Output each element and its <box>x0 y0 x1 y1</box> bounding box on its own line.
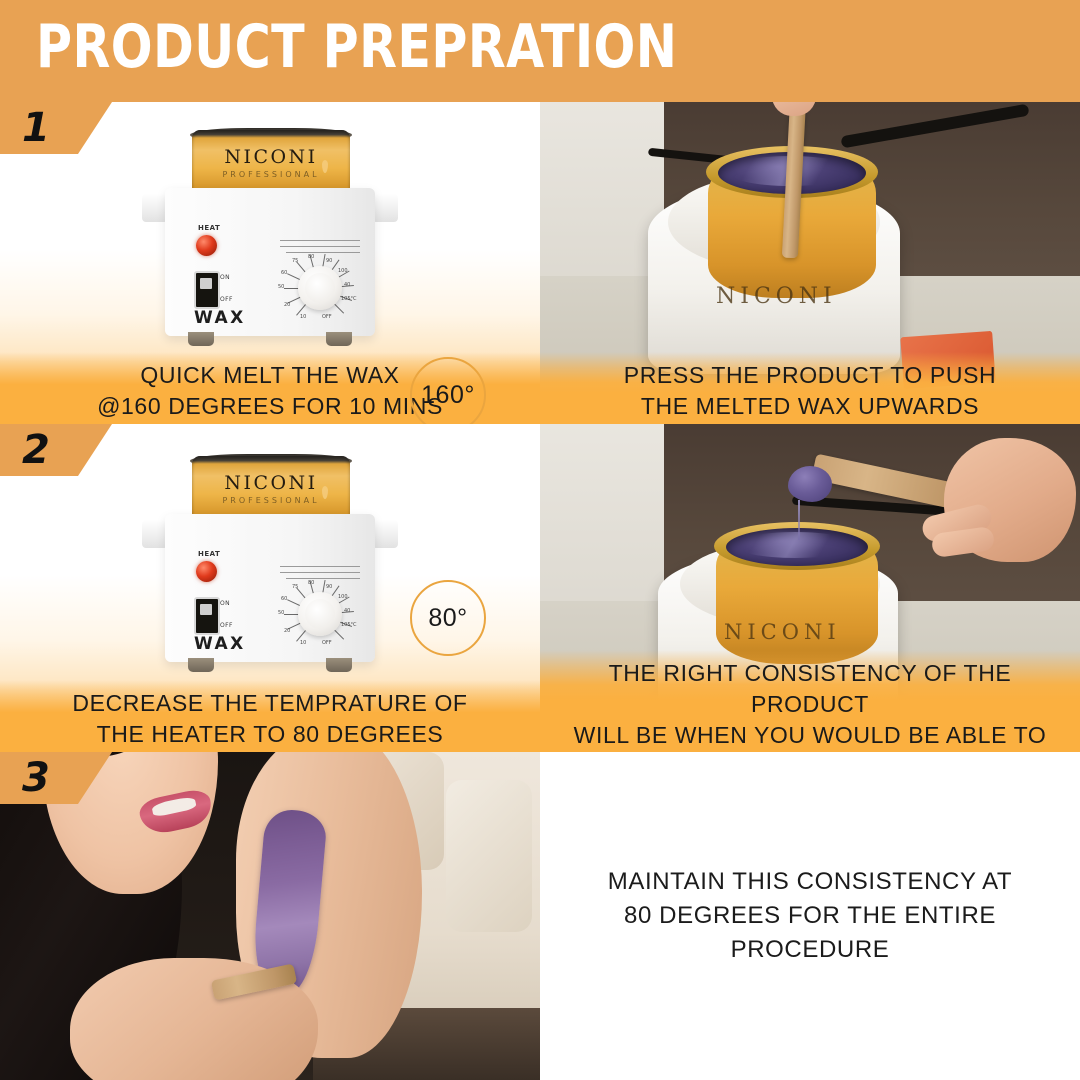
power-switch[interactable] <box>194 271 220 309</box>
dial-tick-label: 60 <box>281 270 287 276</box>
step-number: 2 <box>22 426 50 474</box>
step-2-left-panel: NICONI PROFESSIONAL HEAT ON OFF WAX <box>0 424 540 752</box>
vent-line <box>280 572 360 573</box>
step-1-right-caption: PRESS THE PRODUCT TO PUSH THE MELTED WAX… <box>540 352 1080 424</box>
caption-line: DECREASE THE TEMPRATURE OF <box>12 688 528 719</box>
caption-line: WILL BE WHEN YOU WOULD BE ABLE TO HOLD <box>552 720 1068 752</box>
dial-tick-label: 100 <box>338 594 348 600</box>
tin-brand-text: NICONI <box>716 284 868 306</box>
dial-tick-label: 10 <box>300 640 306 646</box>
wax-on-spatula <box>788 466 832 502</box>
machine-foot <box>326 658 352 672</box>
step-3-right-panel: MAINTAIN THIS CONSISTENCY AT 80 DEGREES … <box>540 752 1080 1080</box>
vent-line <box>280 566 360 567</box>
wax-tin: NICONI PROFESSIONAL <box>192 456 350 522</box>
switch-on-label: ON <box>220 600 230 607</box>
vent-line <box>280 246 360 247</box>
dial-tick-label: 80 <box>308 580 314 586</box>
vent-line <box>280 240 360 241</box>
wax-strand <box>798 500 800 540</box>
text-line: 80 DEGREES FOR THE ENTIRE PROCEDURE <box>570 899 1050 967</box>
dial-tick-label: 100 <box>338 268 348 274</box>
header-bar: PRODUCT PREPRATION <box>0 0 1080 102</box>
dial-knob[interactable] <box>298 266 342 310</box>
heat-indicator-label: HEAT <box>198 550 220 558</box>
machine-foot <box>326 332 352 346</box>
step-3-left-panel: 3 <box>0 752 540 1080</box>
temperature-dial[interactable]: 80 75 90 60 100 50 40 105°C OFF 20 10 <box>278 252 360 326</box>
tin-brand-text: NICONI <box>724 620 872 642</box>
wax-heater-machine: NICONI PROFESSIONAL HEAT ON OFF WAX <box>120 442 420 692</box>
dial-tick-label: 105°C <box>341 296 357 302</box>
dial-tick-label: 60 <box>281 596 287 602</box>
dial-tick-label: 20 <box>284 302 290 308</box>
machine-foot <box>188 658 214 672</box>
dial-tick-label: 90 <box>326 584 332 590</box>
photo-apply-wax-on-arm <box>0 752 540 1080</box>
dial-tick-label: 40 <box>344 282 350 288</box>
closing-instruction-panel: MAINTAIN THIS CONSISTENCY AT 80 DEGREES … <box>540 752 1080 1080</box>
dial-tick-label: 75 <box>292 258 298 264</box>
switch-on-label: ON <box>220 274 230 281</box>
wax-heater-machine: NICONI PROFESSIONAL HEAT ON OFF WAX <box>120 116 420 366</box>
step-3-row: 3 MAINTAIN THIS CONSISTENCY AT 80 DEGREE… <box>0 752 1080 1080</box>
caption-line: THE RIGHT CONSISTENCY OF THE PRODUCT <box>552 658 1068 720</box>
dial-tick-label: 50 <box>278 610 284 616</box>
text-line: MAINTAIN THIS CONSISTENCY AT <box>570 865 1050 899</box>
heat-indicator-label: HEAT <box>198 224 220 232</box>
temperature-badge-80: 80° <box>410 580 486 656</box>
dial-tick-label: 10 <box>300 314 306 320</box>
caption-line: THE HEATER TO 80 DEGREES <box>12 719 528 750</box>
wax-tin: NICONI PROFESSIONAL <box>192 130 350 196</box>
step-number: 3 <box>22 754 50 802</box>
step-number: 1 <box>22 104 50 152</box>
page-title: PRODUCT PREPRATION <box>36 16 677 79</box>
dial-tick-label: 105°C <box>341 622 357 628</box>
step-1-left-panel: NICONI PROFESSIONAL HEAT ON OFF WAX <box>0 102 540 424</box>
dial-knob[interactable] <box>298 592 342 636</box>
dial-tick-label: 20 <box>284 628 290 634</box>
handle-right <box>372 520 398 548</box>
caption-line: PRESS THE PRODUCT TO PUSH <box>552 360 1068 391</box>
switch-off-label: OFF <box>220 622 233 629</box>
dial-tick-label: 50 <box>278 284 284 290</box>
temperature-dial[interactable]: 80 75 90 60 100 50 40 105°C OFF 20 10 <box>278 578 360 652</box>
step-1-row: NICONI PROFESSIONAL HEAT ON OFF WAX <box>0 102 1080 424</box>
power-switch[interactable] <box>194 597 220 635</box>
dial-tick-label: OFF <box>322 640 332 646</box>
wax-sheen <box>734 532 856 558</box>
step-2-left-caption: DECREASE THE TEMPRATURE OF THE HEATER TO… <box>0 680 540 752</box>
caption-line: THE MELTED WAX UPWARDS <box>552 391 1068 422</box>
heat-lamp-icon <box>196 235 217 256</box>
step-2-right-panel: NICONI THE RIGHT CONSISTENCY OF THE PROD… <box>540 424 1080 752</box>
dial-tick-label: 90 <box>326 258 332 264</box>
heat-lamp-icon <box>196 561 217 582</box>
dial-tick-label: 80 <box>308 254 314 260</box>
product-preparation-infographic: PRODUCT PREPRATION NICONI PROFESSIONAL H… <box>0 0 1080 1080</box>
handle-right <box>372 194 398 222</box>
step-2-row: NICONI PROFESSIONAL HEAT ON OFF WAX <box>0 424 1080 752</box>
wall-light-section <box>540 424 664 627</box>
machine-front-label: WAX <box>194 308 246 328</box>
temperature-badge-160: 160° <box>410 357 486 424</box>
dial-tick-label: OFF <box>322 314 332 320</box>
step-1-right-panel: NICONI PRESS THE PRODUCT TO PUSH THE MEL… <box>540 102 1080 424</box>
dial-tick-label: 40 <box>344 608 350 614</box>
machine-front-label: WAX <box>194 634 246 654</box>
step-2-right-caption: THE RIGHT CONSISTENCY OF THE PRODUCT WIL… <box>540 650 1080 752</box>
machine-foot <box>188 332 214 346</box>
switch-off-label: OFF <box>220 296 233 303</box>
dial-tick-label: 75 <box>292 584 298 590</box>
closing-instruction-text: MAINTAIN THIS CONSISTENCY AT 80 DEGREES … <box>540 865 1080 967</box>
wall-light-section <box>540 102 664 302</box>
cushion <box>446 780 532 932</box>
